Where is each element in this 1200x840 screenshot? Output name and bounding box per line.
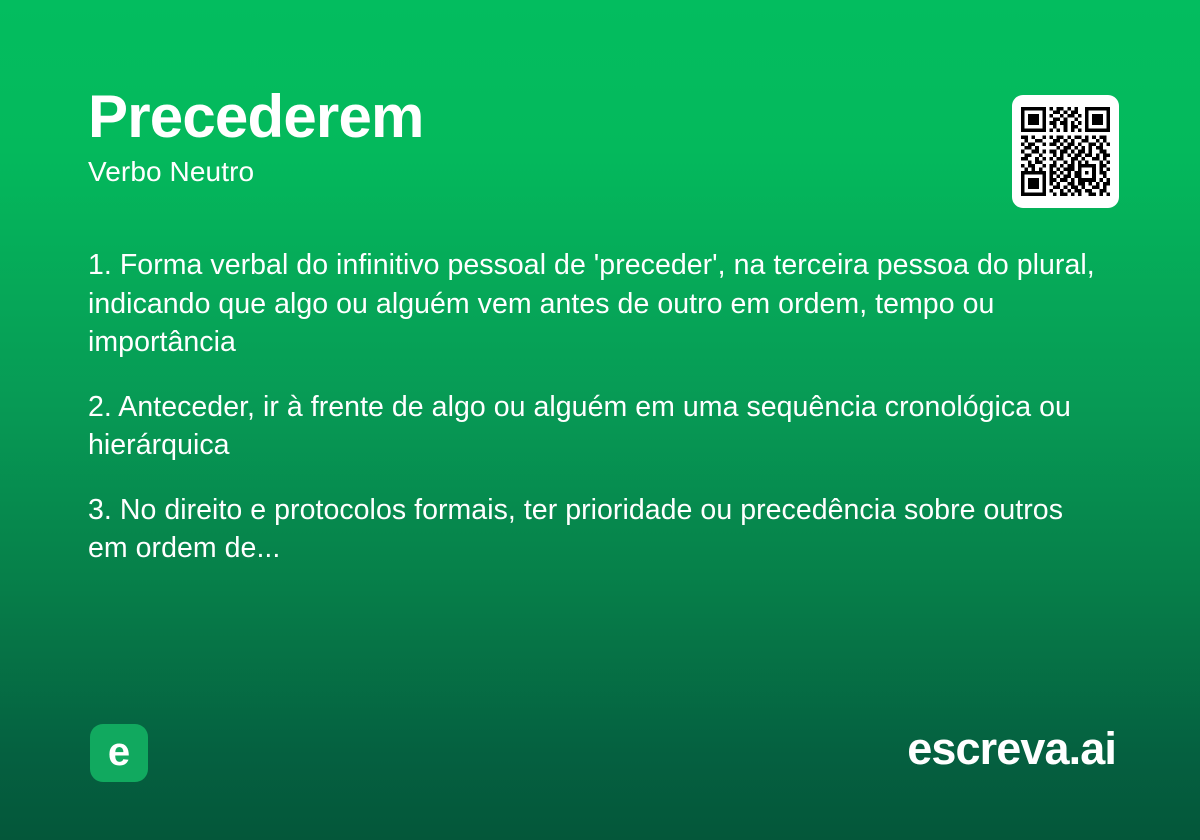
card-header: Precederem Verbo Neutro	[88, 86, 968, 188]
qr-code[interactable]	[1012, 95, 1119, 208]
page-title: Precederem	[88, 86, 968, 147]
qr-code-icon	[1021, 104, 1110, 199]
definition-item: 2. Anteceder, ir à frente de algo ou alg…	[88, 388, 1098, 465]
definition-item: 3. No direito e protocolos formais, ter …	[88, 491, 1098, 568]
word-definition-card: Precederem Verbo Neutro	[0, 0, 1200, 840]
logo-letter: e	[108, 732, 130, 772]
brand-wordmark: escreva.ai	[907, 722, 1116, 776]
part-of-speech-label: Verbo Neutro	[88, 157, 968, 188]
escreva-logo[interactable]: e	[90, 724, 148, 782]
definition-item: 1. Forma verbal do infinitivo pessoal de…	[88, 246, 1098, 362]
definition-list: 1. Forma verbal do infinitivo pessoal de…	[88, 246, 1098, 568]
